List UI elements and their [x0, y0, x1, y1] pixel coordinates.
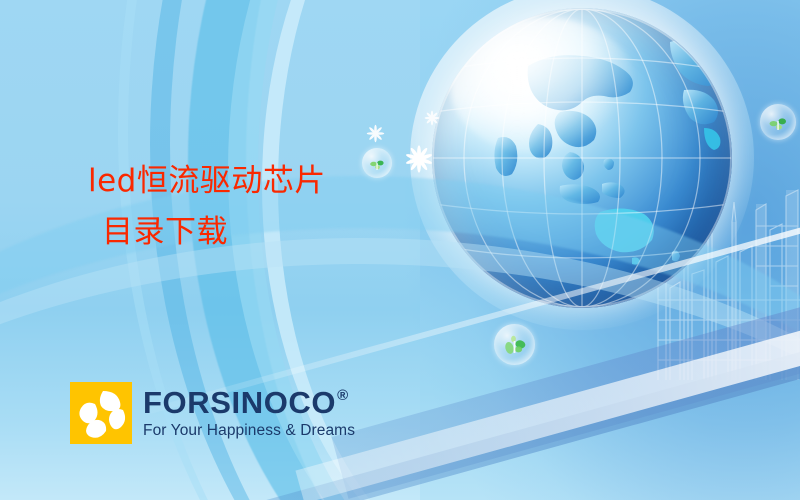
headline-line-2: 目录下载 — [102, 217, 418, 248]
asterisk-flower-tiny-icon — [424, 110, 440, 126]
forsinoco-pinwheel-mark-icon — [70, 382, 132, 444]
bubble-leaf-icon — [494, 324, 535, 365]
brand-name: FORSINOCO — [143, 387, 336, 418]
brand-tagline: For Your Happiness & Dreams — [143, 423, 355, 439]
brand-name-row: FORSINOCO ® — [143, 387, 355, 418]
pinwheel-petals-icon — [70, 382, 132, 444]
headline-block: led恒流驱动芯片 目录下载 — [88, 166, 418, 248]
brand-logo[interactable]: FORSINOCO ® For Your Happiness & Dreams — [70, 382, 355, 444]
bubble-pinwheel-corner-icon — [760, 104, 796, 140]
registered-trademark-icon: ® — [337, 388, 349, 403]
bubble-leaf-medium — [494, 324, 535, 365]
headline-line-1: led恒流驱动芯片 — [88, 166, 418, 197]
bubble-pinwheel-corner — [760, 104, 796, 140]
promotional-banner: led恒流驱动芯片 目录下载 FORSINOCO ® — [0, 0, 800, 500]
logo-text-block: FORSINOCO ® For Your Happiness & Dreams — [143, 387, 355, 439]
asterisk-flower-small-icon — [366, 124, 385, 143]
